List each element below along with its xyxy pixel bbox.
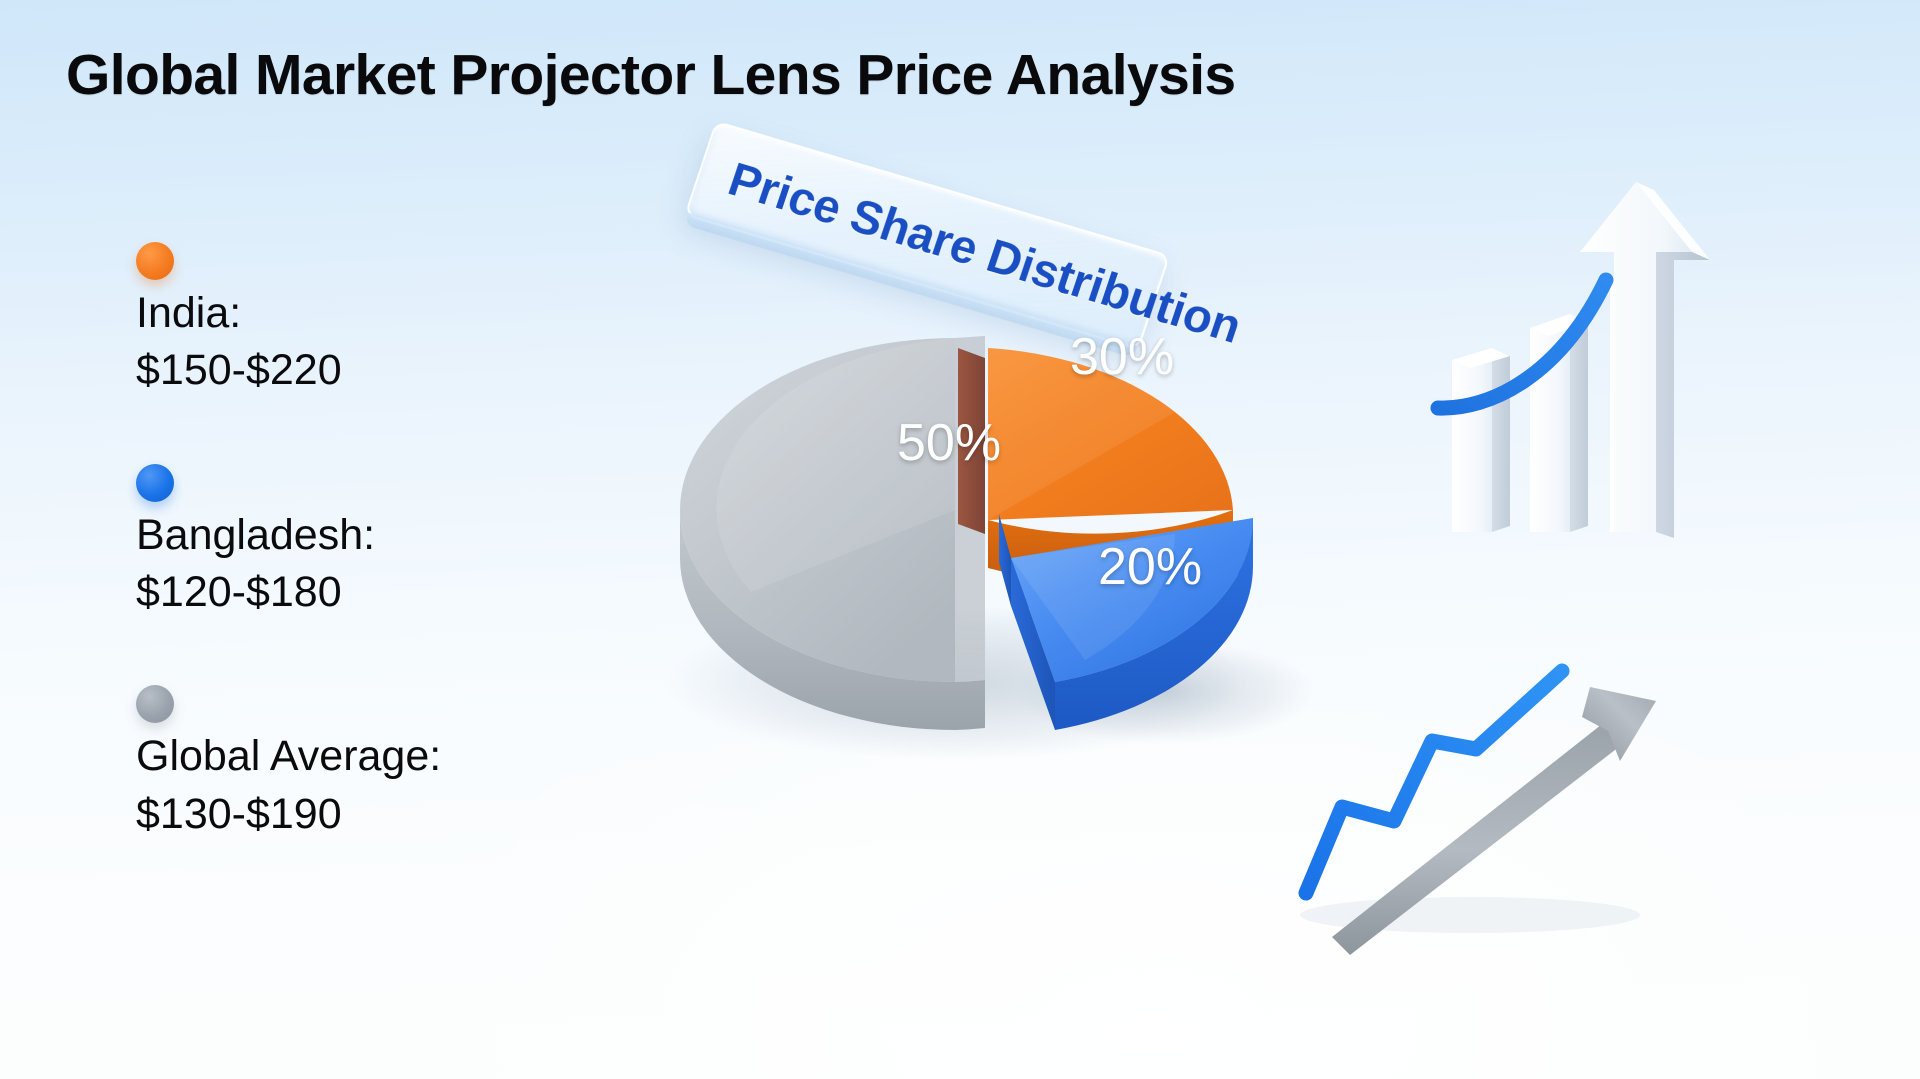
pie-chart-svg xyxy=(655,262,1375,822)
legend-item-bangladesh: Bangladesh: $120-$180 xyxy=(136,450,656,622)
blue-dot-icon xyxy=(136,464,174,502)
legend-item-text: Global Average: $130-$190 xyxy=(136,728,656,842)
legend-item-text: Bangladesh: $120-$180 xyxy=(136,507,656,621)
legend-label: India: xyxy=(136,285,656,342)
legend-item-india: India: $150-$220 xyxy=(136,228,656,400)
legend-label: Global Average: xyxy=(136,728,656,785)
page-title: Global Market Projector Lens Price Analy… xyxy=(66,42,1236,108)
growth-bars-arrow-decoration xyxy=(1430,160,1760,540)
legend-item-text: India: $150-$220 xyxy=(136,285,656,399)
legend-label: Bangladesh: xyxy=(136,507,656,564)
legend-item-global-average: Global Average: $130-$190 xyxy=(136,671,656,843)
pie-chart: 50% 30% 20% xyxy=(655,262,1375,822)
legend-value: $150-$220 xyxy=(136,342,656,399)
infographic-canvas: Global Market Projector Lens Price Analy… xyxy=(0,0,1920,1079)
legend: India: $150-$220 Bangladesh: $120-$180 G… xyxy=(136,228,656,893)
pie-label-blue: 20% xyxy=(1098,537,1202,597)
pie-label-orange: 30% xyxy=(1070,327,1174,387)
trend-zigzag-arrow-decoration xyxy=(1290,625,1680,955)
growth-bars-icon xyxy=(1430,160,1760,540)
legend-value: $120-$180 xyxy=(136,564,656,621)
gray-dot-icon xyxy=(136,685,174,723)
orange-dot-icon xyxy=(136,242,174,280)
legend-value: $130-$190 xyxy=(136,786,656,843)
trend-line-icon xyxy=(1290,625,1680,955)
pie-label-gray: 50% xyxy=(897,413,1001,473)
